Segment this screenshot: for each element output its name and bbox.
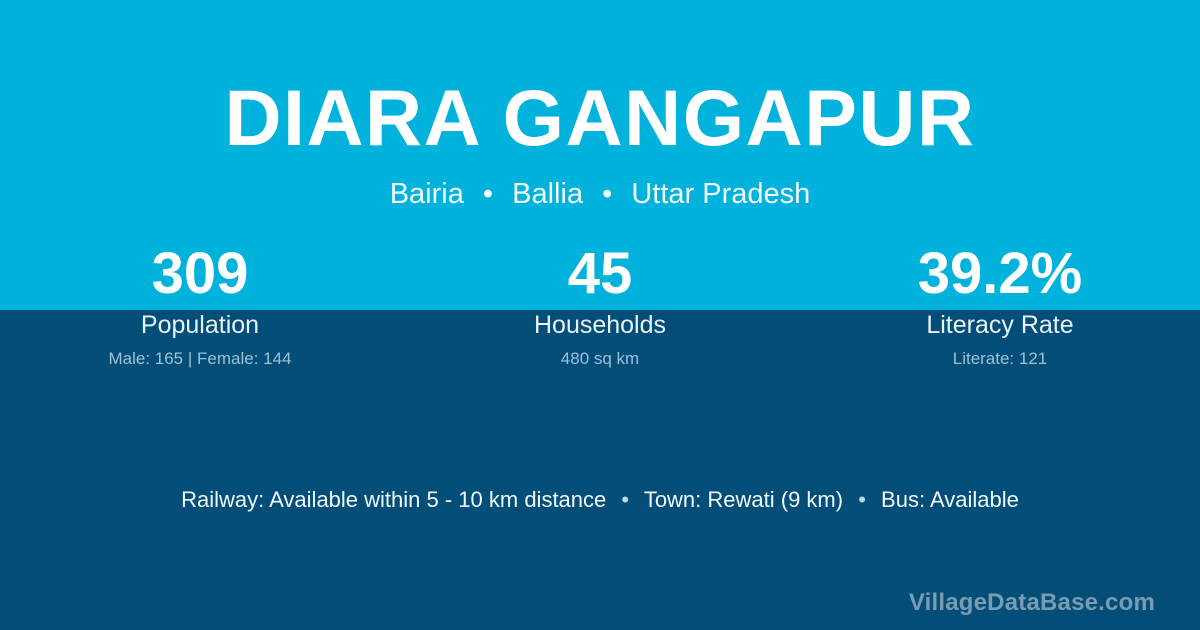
stat-sublabel: 480 sq km [400, 349, 800, 369]
amenity-separator-icon: • [612, 485, 638, 515]
stat-population: 309 Population Male: 165 | Female: 144 [0, 243, 400, 369]
breadcrumb-block: Bairia [390, 178, 464, 210]
breadcrumb-separator-icon: • [472, 180, 504, 209]
stat-value: 309 [0, 243, 400, 305]
stat-value: 39.2% [800, 243, 1200, 305]
page-title: DIARA GANGAPUR [0, 78, 1200, 157]
amenity-separator-icon: • [849, 485, 875, 515]
stat-label: Literacy Rate [800, 311, 1200, 339]
stat-sublabel: Literate: 121 [800, 349, 1200, 369]
stat-households: 45 Households 480 sq km [400, 243, 800, 369]
breadcrumb-separator-icon: • [591, 180, 623, 209]
site-brand-watermark: VillageDataBase.com [909, 589, 1155, 617]
stat-value: 45 [400, 243, 800, 305]
amenity-bus: Bus: Available [881, 487, 1019, 512]
amenity-railway: Railway: Available within 5 - 10 km dist… [181, 487, 606, 512]
stat-label: Households [400, 311, 800, 339]
breadcrumb-district: Ballia [512, 178, 583, 210]
breadcrumb-state: Uttar Pradesh [631, 178, 810, 210]
amenity-town: Town: Rewati (9 km) [644, 487, 843, 512]
amenities-line: Railway: Available within 5 - 10 km dist… [0, 485, 1200, 515]
stat-sublabel: Male: 165 | Female: 144 [0, 349, 400, 369]
stat-label: Population [0, 311, 400, 339]
stats-row: 309 Population Male: 165 | Female: 144 4… [0, 243, 1200, 369]
card-header: DIARA GANGAPUR Bairia • Ballia • Uttar P… [0, 0, 1200, 209]
breadcrumb: Bairia • Ballia • Uttar Pradesh [0, 180, 1200, 209]
stat-literacy-rate: 39.2% Literacy Rate Literate: 121 [800, 243, 1200, 369]
village-info-card: DIARA GANGAPUR Bairia • Ballia • Uttar P… [0, 0, 1200, 630]
